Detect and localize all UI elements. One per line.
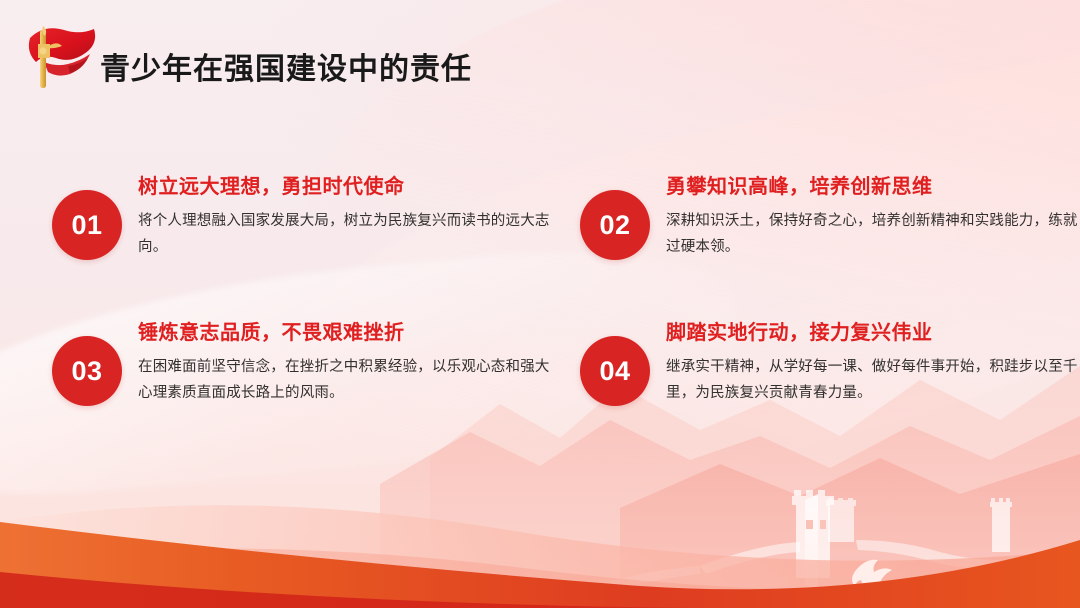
item-number-badge: 04	[580, 336, 650, 406]
item-heading: 勇攀知识高峰，培养创新思维	[666, 172, 1080, 202]
item-text-block: 树立远大理想，勇担时代使命 将个人理想融入国家发展大局，树立为民族复兴而读书的远…	[138, 168, 552, 260]
item-description: 将个人理想融入国家发展大局，树立为民族复兴而读书的远大志向。	[138, 208, 552, 260]
item-text-block: 脚踏实地行动，接力复兴伟业 继承实干精神，从学好每一课、做好每件事开始，积跬步以…	[666, 314, 1080, 406]
list-item: 04 脚踏实地行动，接力复兴伟业 继承实干精神，从学好每一课、做好每件事开始，积…	[580, 314, 1080, 418]
item-heading: 树立远大理想，勇担时代使命	[138, 172, 552, 202]
item-number-badge: 02	[580, 190, 650, 260]
list-item: 03 锤炼意志品质，不畏艰难挫折 在困难面前坚守信念，在挫折之中积累经验，以乐观…	[52, 314, 552, 418]
items-grid: 01 树立远大理想，勇担时代使命 将个人理想融入国家发展大局，树立为民族复兴而读…	[0, 168, 1080, 418]
slide-header: 青少年在强国建设中的责任	[0, 0, 1080, 110]
item-text-block: 锤炼意志品质，不畏艰难挫折 在困难面前坚守信念，在挫折之中积累经验，以乐观心态和…	[138, 314, 552, 406]
slide-canvas: 青少年在强国建设中的责任 01 树立远大理想，勇担时代使命 将个人理想融入国家发…	[0, 0, 1080, 608]
item-description: 深耕知识沃土，保持好奇之心，培养创新精神和实践能力，练就过硬本领。	[666, 208, 1080, 260]
bottom-color-bands	[0, 468, 1080, 608]
item-description: 在困难面前坚守信念，在挫折之中积累经验，以乐观心态和强大心理素质直面成长路上的风…	[138, 354, 552, 406]
page-title: 青少年在强国建设中的责任	[100, 44, 472, 88]
item-heading: 锤炼意志品质，不畏艰难挫折	[138, 318, 552, 348]
content-area: 01 树立远大理想，勇担时代使命 将个人理想融入国家发展大局，树立为民族复兴而读…	[0, 168, 1080, 418]
item-number-badge: 03	[52, 336, 122, 406]
list-item: 02 勇攀知识高峰，培养创新思维 深耕知识沃土，保持好奇之心，培养创新精神和实践…	[580, 168, 1080, 272]
list-item: 01 树立远大理想，勇担时代使命 将个人理想融入国家发展大局，树立为民族复兴而读…	[52, 168, 552, 272]
item-heading: 脚踏实地行动，接力复兴伟业	[666, 318, 1080, 348]
red-flag-icon	[14, 20, 104, 92]
item-description: 继承实干精神，从学好每一课、做好每件事开始，积跬步以至千里，为民族复兴贡献青春力…	[666, 354, 1080, 406]
item-text-block: 勇攀知识高峰，培养创新思维 深耕知识沃土，保持好奇之心，培养创新精神和实践能力，…	[666, 168, 1080, 260]
item-number-badge: 01	[52, 190, 122, 260]
